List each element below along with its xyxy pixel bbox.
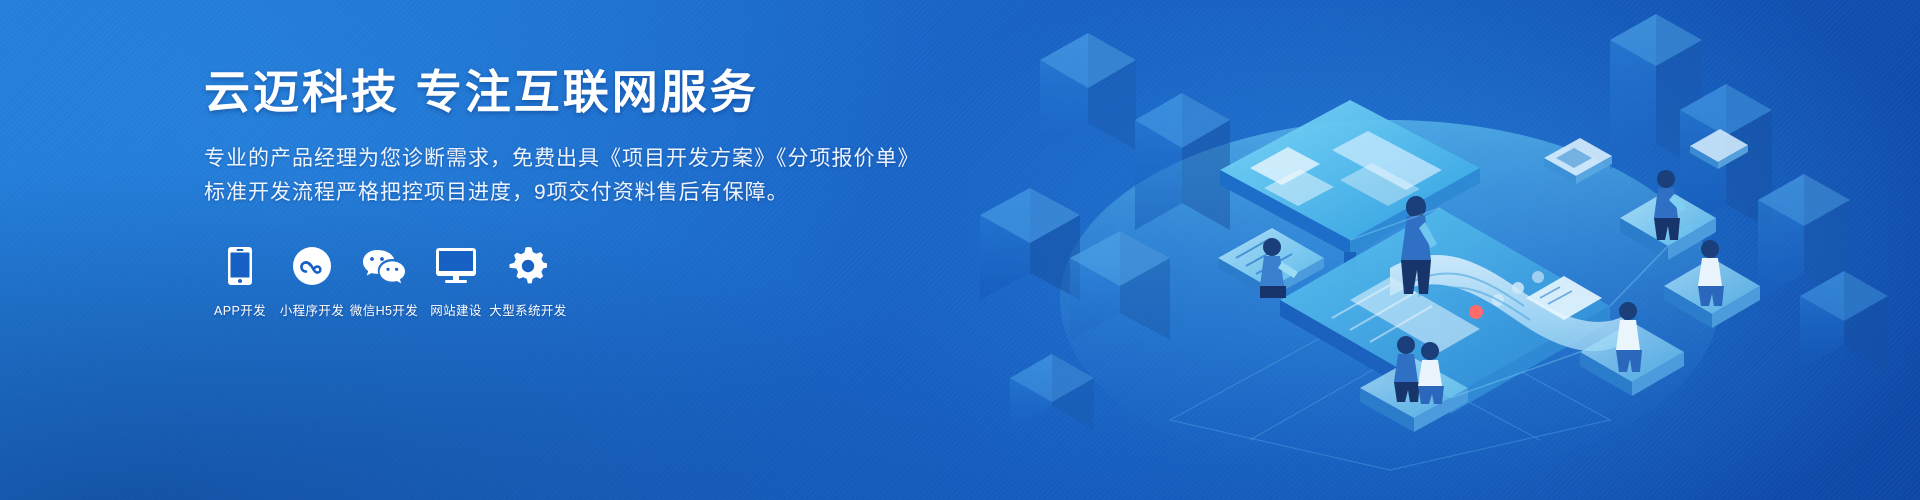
subtitle-line-1: 专业的产品经理为您诊断需求，免费出具《项目开发方案》《分项报价单》 — [204, 142, 920, 176]
service-label: 小程序开发 — [280, 300, 345, 319]
page-title: 云迈科技 专注互联网服务 — [204, 66, 920, 119]
service-item-app[interactable]: APP开发 — [204, 244, 276, 319]
isometric-illustration — [920, 0, 1920, 500]
service-item-large-system[interactable]: 大型系统开发 — [492, 244, 564, 319]
service-list: APP开发 小程序开发 — [204, 244, 920, 319]
service-label: 网站建设 — [430, 300, 482, 319]
service-label: APP开发 — [214, 300, 266, 319]
gear-icon — [509, 244, 547, 288]
service-label: 大型系统开发 — [489, 300, 566, 319]
promo-banner: 云迈科技 专注互联网服务 专业的产品经理为您诊断需求，免费出具《项目开发方案》《… — [0, 0, 1920, 500]
service-item-website[interactable]: 网站建设 — [420, 244, 492, 319]
service-label: 微信H5开发 — [350, 300, 418, 319]
monitor-icon — [436, 244, 476, 288]
service-item-wechat-h5[interactable]: 微信H5开发 — [348, 244, 420, 319]
mini-program-icon — [293, 244, 331, 288]
banner-subtitle: 专业的产品经理为您诊断需求，免费出具《项目开发方案》《分项报价单》 标准开发流程… — [204, 142, 920, 210]
mobile-phone-icon — [228, 244, 252, 288]
subtitle-line-2: 标准开发流程严格把控项目进度，9项交付资料售后有保障。 — [204, 176, 920, 210]
service-item-mini-program[interactable]: 小程序开发 — [276, 244, 348, 319]
wechat-icon — [362, 244, 406, 288]
banner-copy: 云迈科技 专注互联网服务 专业的产品经理为您诊断需求，免费出具《项目开发方案》《… — [204, 66, 920, 319]
